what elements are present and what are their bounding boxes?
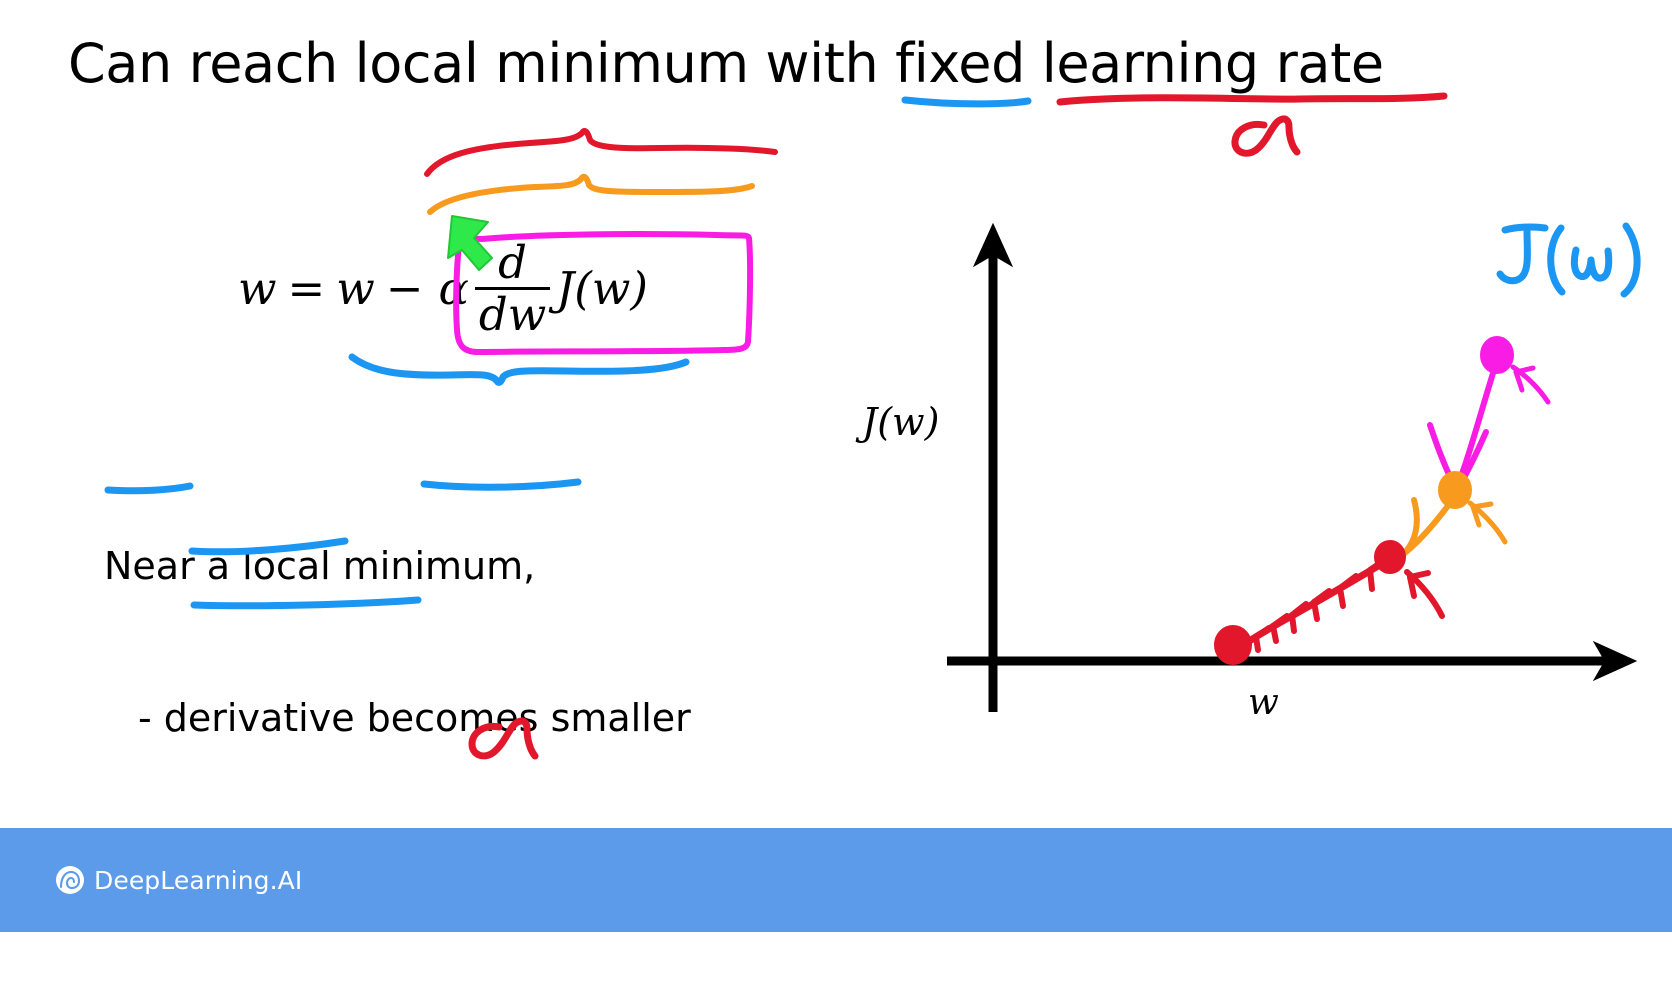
blue-underline-fixed-icon: [905, 100, 1028, 104]
formula-alpha: α: [435, 262, 469, 315]
red-alpha-title-icon: [1235, 119, 1297, 153]
formula-derivative-fraction: d dw: [475, 240, 550, 337]
magenta-descent-segment: [1430, 370, 1494, 490]
graph-x-axis: [947, 642, 1636, 680]
formula-cost-function: J(w): [556, 262, 648, 315]
orange-brace-above-formula-icon: [430, 177, 752, 212]
formula-equals: =: [277, 262, 337, 315]
formula-lhs: w: [238, 262, 277, 315]
body-line-1: Near a local minimum,: [104, 541, 728, 592]
blue-brace-below-formula-icon: [352, 357, 686, 382]
red-descent-path: [1245, 559, 1386, 650]
y-axis-label: J(w): [862, 400, 939, 444]
footer-banner: DeepLearning.AI: [0, 828, 1672, 932]
orange-descent-segment: [1400, 500, 1450, 557]
formula-minus: −: [375, 262, 435, 315]
fraction-numerator: d: [494, 240, 531, 287]
graph-point-step-4-red-final: [1216, 627, 1250, 663]
gradient-descent-formula: w = w − α d dw J(w): [238, 240, 648, 337]
red-underline-learning-rate-icon: [1060, 96, 1444, 102]
graph-y-axis: [974, 224, 1012, 712]
handwritten-curve-label-icon: [1500, 226, 1637, 294]
red-brace-above-formula-icon: [427, 131, 775, 174]
slide-canvas: Can reach local minimum with fixed learn…: [0, 0, 1672, 932]
x-axis-label: w: [1248, 682, 1279, 723]
graph-point-step-1-magenta: [1482, 338, 1548, 402]
graph-point-step-2-orange: [1440, 473, 1505, 542]
fraction-denominator: dw: [475, 290, 550, 337]
body-line-2: - derivative becomes smaller: [104, 693, 728, 744]
page-title: Can reach local minimum with fixed learn…: [68, 32, 1384, 95]
graph-point-step-3-red: [1376, 542, 1442, 616]
brand-lockup: DeepLearning.AI: [55, 865, 302, 895]
deeplearning-spiral-logo-icon: [55, 865, 85, 895]
brand-name: DeepLearning.AI: [94, 866, 302, 895]
formula-rhs-w: w: [336, 262, 375, 315]
